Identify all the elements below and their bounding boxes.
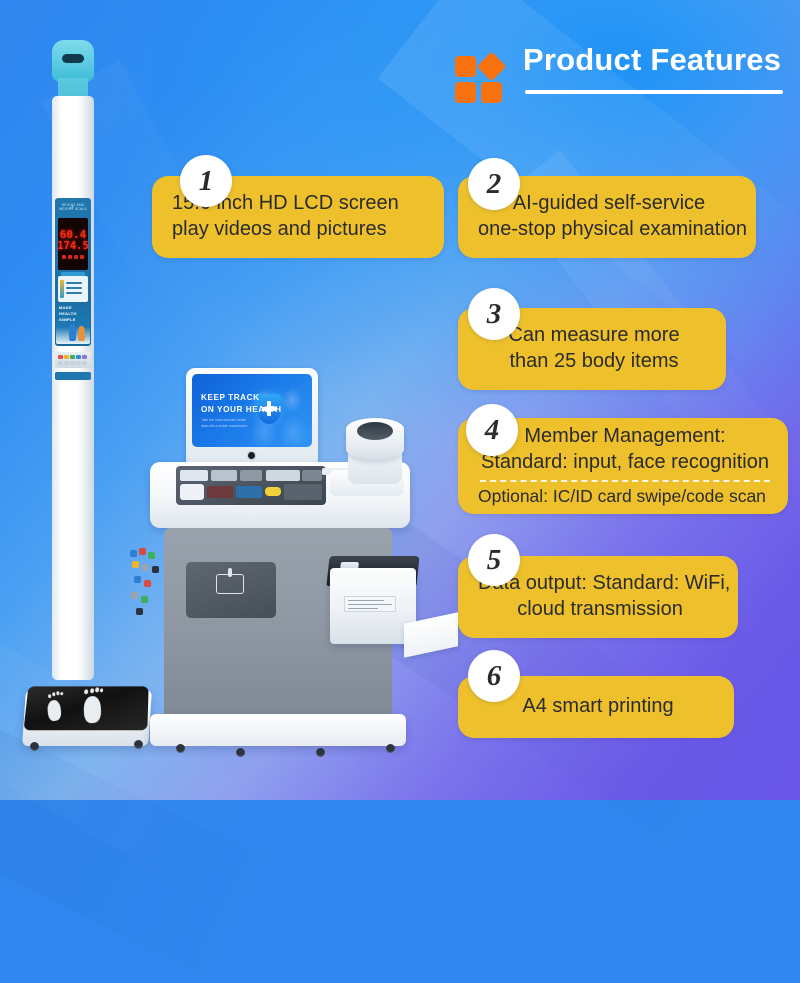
feature-badge-6: 6 xyxy=(468,650,520,702)
cable-bundle xyxy=(128,548,170,624)
led-height-value: 174.5 xyxy=(57,241,89,252)
feature-badge-3: 3 xyxy=(468,288,520,340)
led-display: 60.4 174.5 xyxy=(58,218,88,270)
caster-wheel xyxy=(386,744,395,753)
poster-text: MAKE HEALTH SIMPLE xyxy=(59,305,77,323)
scale-platform xyxy=(24,686,149,730)
page-title: Product Features xyxy=(523,42,781,78)
column-display-panel: ♂ HEIGHT AND WEIGHT SCALE 60.4 174.5 MAK… xyxy=(55,198,91,346)
poster-figure-a xyxy=(69,324,76,341)
caster-wheel xyxy=(176,744,185,753)
logo-diamond-top-right xyxy=(477,52,507,82)
panel-poster: MAKE HEALTH SIMPLE xyxy=(56,302,90,344)
feature-card-4-optional-note: Optional: IC/ID card swipe/code scan xyxy=(478,486,772,508)
feature-card-1-line-2: play videos and pictures xyxy=(172,217,428,243)
feature-card-4-divider xyxy=(480,480,770,482)
kiosk-lcd-screen[interactable]: Keep Track On Your Health Take the most … xyxy=(192,374,312,447)
feature-badge-4: 4 xyxy=(466,404,518,456)
feature-card-6-line-1: A4 smart printing xyxy=(478,694,718,720)
feature-badge-2: 2 xyxy=(468,158,520,210)
cabinet-base xyxy=(150,714,406,746)
logo-square-bottom-left xyxy=(455,82,476,103)
logo-square-bottom-right xyxy=(481,82,502,103)
feature-card-2-line-2: one-stop physical examination xyxy=(478,217,740,243)
feature-card-3-line-2: than 25 body items xyxy=(478,349,710,375)
screen-headline: Keep Track On Your Health xyxy=(201,392,282,417)
screen-subtext: Take the most accurate health data with … xyxy=(201,418,247,430)
printer-label xyxy=(344,596,396,612)
feature-card-4-line-2: Standard: input, face recognition xyxy=(478,450,772,476)
sensor-module-tray xyxy=(176,466,326,505)
footprint-right-icon xyxy=(83,695,101,724)
footprint-left-icon xyxy=(47,699,62,722)
caster-wheel xyxy=(134,740,143,749)
four-squares-logo xyxy=(455,52,507,104)
feature-card-5-line-2: cloud transmission xyxy=(478,597,722,623)
poster-figure-b xyxy=(78,326,85,341)
feature-badge-1: 1 xyxy=(180,155,232,207)
door-handle-icon xyxy=(228,568,232,577)
height-measuring-column xyxy=(52,96,94,680)
feature-badge-5: 5 xyxy=(468,534,520,586)
caster-wheel xyxy=(30,742,39,751)
door-label-icon xyxy=(216,574,244,594)
led-indicator-dots xyxy=(62,255,84,259)
caster-wheel xyxy=(316,748,325,757)
sensor-lens-icon xyxy=(62,54,84,63)
column-brand-strip xyxy=(55,372,91,380)
title-underline xyxy=(525,90,783,94)
panel-brand-label: HEIGHT AND WEIGHT SCALE xyxy=(55,203,91,211)
camera-icon xyxy=(248,452,255,459)
logo-square-top-left xyxy=(455,56,476,77)
caster-wheel xyxy=(236,748,245,757)
feature-card-4-line-1: Member Management: xyxy=(478,424,772,450)
cuff-arm-opening xyxy=(357,422,393,440)
